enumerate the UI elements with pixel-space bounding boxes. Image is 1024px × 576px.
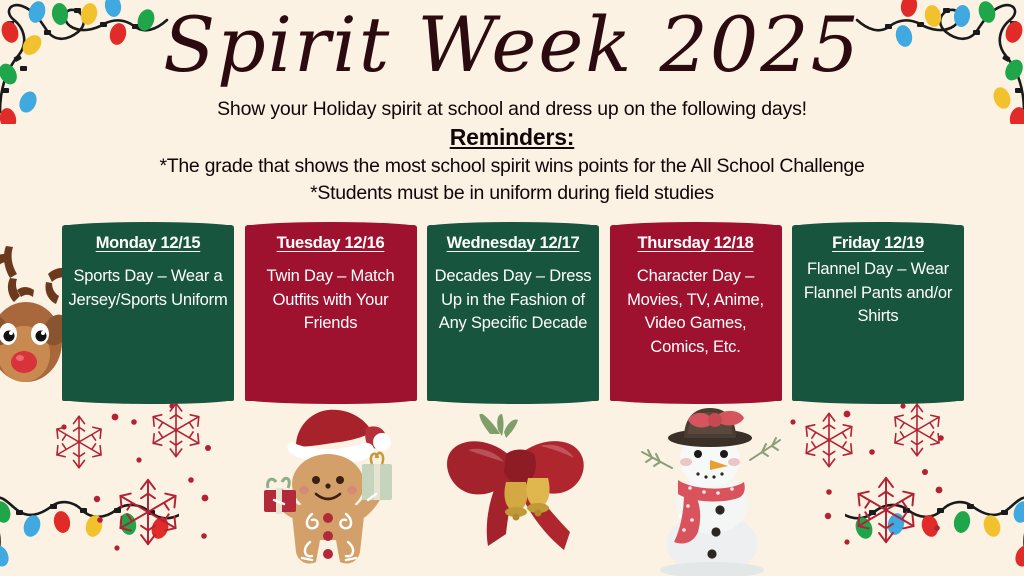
ribbon-bow-with-bells-icon bbox=[444, 414, 604, 566]
day-card-wednesday[interactable]: Wednesday 12/17 Decades Day – Dress Up i… bbox=[427, 225, 599, 401]
page-title: Spirit Week 2025 bbox=[0, 2, 1024, 88]
snowman-icon bbox=[640, 396, 782, 576]
gingerbread-man-icon bbox=[262, 402, 394, 576]
day-cards-row: Monday 12/15 Sports Day – Wear a Jersey/… bbox=[62, 225, 964, 401]
day-card-activity: Twin Day – Match Outfits with Your Frien… bbox=[251, 265, 411, 336]
reminder-line-2: *Students must be in uniform during fiel… bbox=[0, 180, 1024, 207]
day-card-monday[interactable]: Monday 12/15 Sports Day – Wear a Jersey/… bbox=[62, 225, 234, 401]
day-card-activity: Flannel Day – Wear Flannel Pants and/or … bbox=[798, 258, 958, 329]
day-card-tuesday[interactable]: Tuesday 12/16 Twin Day – Match Outfits w… bbox=[245, 225, 417, 401]
day-card-activity: Decades Day – Dress Up in the Fashion of… bbox=[433, 265, 593, 336]
day-card-date: Thursday 12/18 bbox=[616, 233, 776, 254]
day-card-activity: Character Day – Movies, TV, Anime, Video… bbox=[616, 265, 776, 359]
day-card-thursday[interactable]: Thursday 12/18 Character Day – Movies, T… bbox=[610, 225, 782, 401]
snowflakes-right-icon bbox=[781, 400, 1006, 570]
string-lights-bottom-left-icon bbox=[0, 464, 179, 576]
intro-block: Show your Holiday spirit at school and d… bbox=[0, 96, 1024, 207]
reminders-heading: Reminders: bbox=[0, 122, 1024, 153]
day-card-date: Monday 12/15 bbox=[68, 233, 228, 254]
day-card-date: Friday 12/19 bbox=[798, 233, 958, 254]
day-card-friday[interactable]: Friday 12/19 Flannel Day – Wear Flannel … bbox=[792, 225, 964, 401]
subtitle: Show your Holiday spirit at school and d… bbox=[0, 96, 1024, 122]
snowflakes-left-icon bbox=[42, 402, 257, 572]
spirit-week-poster: Spirit Week 2025 Show your Holiday spiri… bbox=[0, 0, 1024, 576]
day-card-activity: Sports Day – Wear a Jersey/Sports Unifor… bbox=[68, 265, 228, 312]
reminder-line-1: *The grade that shows the most school sp… bbox=[0, 153, 1024, 180]
string-lights-bottom-right-icon bbox=[845, 464, 1024, 576]
day-card-date: Wednesday 12/17 bbox=[433, 233, 593, 254]
day-card-date: Tuesday 12/16 bbox=[251, 233, 411, 254]
